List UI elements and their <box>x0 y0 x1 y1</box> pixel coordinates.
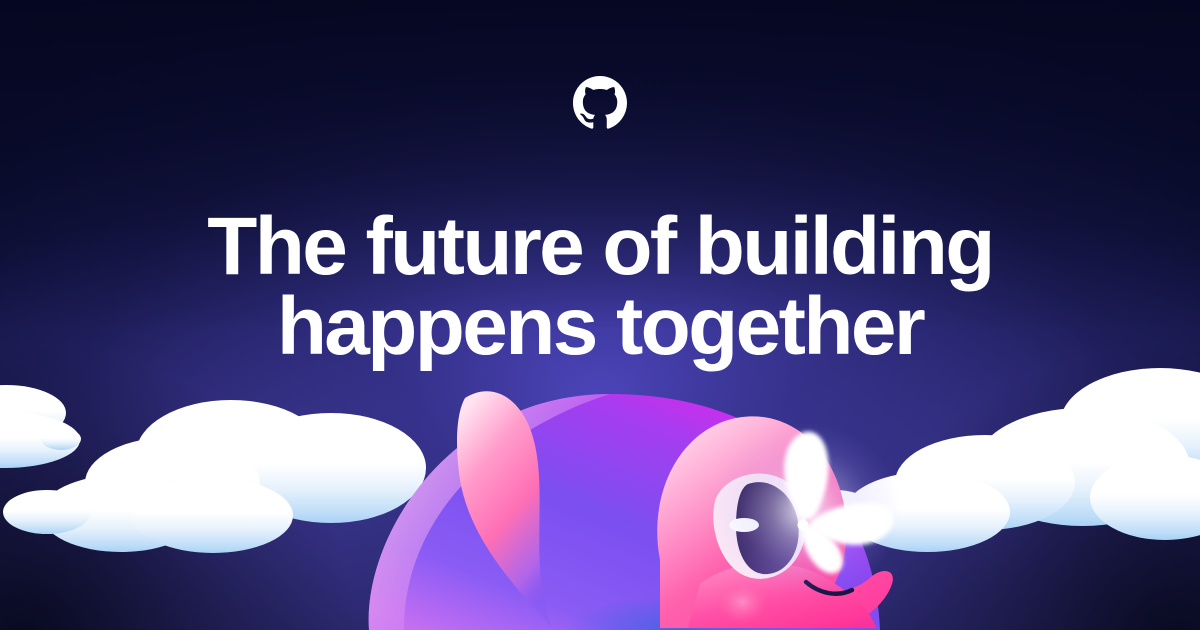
octocat-illustration <box>0 370 1200 630</box>
headline-line-1: The future of building <box>60 207 1140 287</box>
page-title: The future of building happens together <box>0 207 1200 368</box>
github-invertocat-icon <box>573 76 627 130</box>
butterfly-body <box>798 520 809 531</box>
og-social-card: The future of building happens together <box>0 0 1200 630</box>
headline-line-2: happens together <box>60 287 1140 367</box>
